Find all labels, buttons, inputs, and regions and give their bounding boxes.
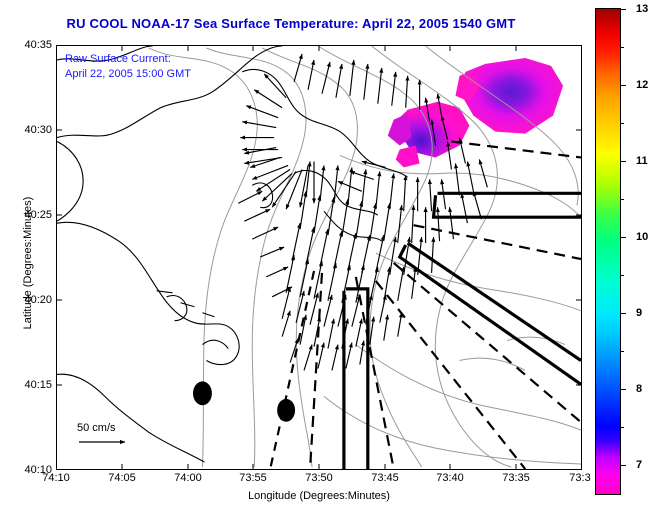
sst-patch-northeast [455,58,563,134]
xtick-4: 73:50 [305,472,333,484]
xtick-8: 73:3 [569,472,590,484]
colorbar-gradient [595,8,621,495]
arrow-right-icon [77,436,133,448]
annotation-line-2: April 22, 2005 15:00 GMT [65,67,191,82]
ytick-5: 40:10 [24,464,52,476]
colorbar-label-11: 11 [636,155,648,167]
xtick-1: 74:05 [108,472,136,484]
velocity-scale-legend: 50 cm/s [77,422,133,451]
map-canvas [57,46,581,469]
y-axis-label: Latitude (Degrees:Minutes) [22,173,34,353]
map-plot-area[interactable]: Raw Surface Current: April 22, 2005 15:0… [56,45,582,470]
annotation-line-1: Raw Surface Current: [65,52,191,67]
ytick-0: 40:35 [24,39,52,51]
radar-coverage-sectors [270,142,581,469]
xtick-7: 73:35 [502,472,530,484]
radar-station-east [277,399,295,422]
colorbar-label-7: 7 [636,459,642,471]
x-axis-label: Longitude (Degrees:Minutes) [56,490,582,502]
current-annotation: Raw Surface Current: April 22, 2005 15:0… [65,52,191,82]
colorbar-label-13: 13 [636,3,648,15]
xtick-3: 73:55 [239,472,267,484]
coastline [57,46,408,462]
colorbar[interactable] [595,8,621,495]
figure-title: RU COOL NOAA-17 Sea Surface Temperature:… [0,16,582,31]
sst-patch-central [388,102,470,168]
colorbar-label-10: 10 [636,231,648,243]
xtick-6: 73:40 [436,472,464,484]
scale-label: 50 cm/s [77,422,133,434]
colorbar-label-12: 12 [636,79,648,91]
station-markers[interactable] [193,381,295,421]
xtick-5: 73:45 [371,472,399,484]
colorbar-label-8: 8 [636,383,642,395]
colorbar-label-9: 9 [636,307,642,319]
ytick-4: 40:15 [24,379,52,391]
xtick-2: 74:00 [174,472,202,484]
radar-station-west [193,381,212,405]
sst-map-figure: RU COOL NOAA-17 Sea Surface Temperature:… [0,0,651,515]
ytick-1: 40:30 [24,124,52,136]
